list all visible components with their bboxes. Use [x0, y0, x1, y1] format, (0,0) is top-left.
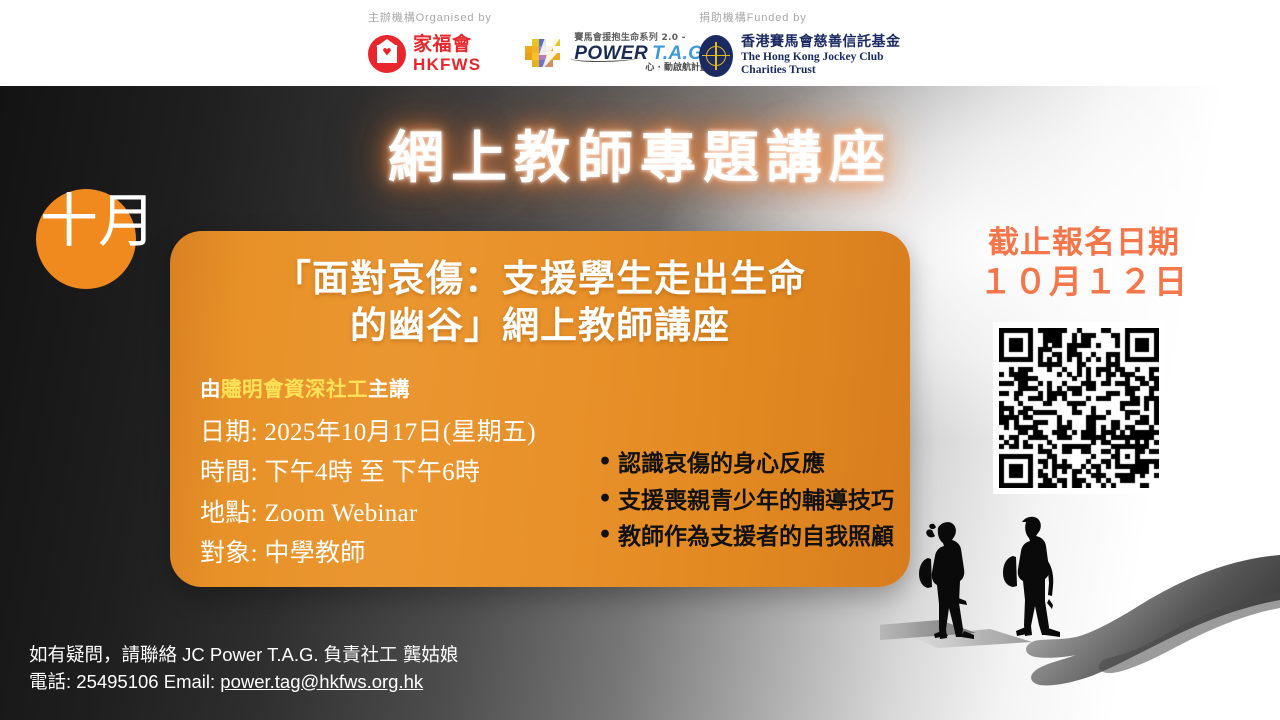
event-info-column: 由贐明會資深社工主講 日期: 2025年10月17日(星期五) 時間: 下午4時… — [200, 372, 590, 575]
sponsor-bar: 主辦機構Organised by 家福會 HKFWS — [0, 0, 1280, 86]
page-title: 網上教師專題講座 — [0, 113, 1280, 194]
phone-label: 電話: 25495106 Email: — [29, 671, 220, 692]
deadline-date: １０月１２日 — [950, 262, 1218, 302]
hkjc-logo: 香港賽馬會慈善信託基金 The Hong Kong Jockey Club Ch… — [699, 34, 901, 78]
powertag-logo: 賽馬會援抱生命系列 2.0 - POWERT.A.G. 心 · 動啟航計劃 — [525, 34, 709, 73]
deadline-label: 截止報名日期 — [950, 226, 1218, 262]
list-item: 支援喪親青少年的輔導技巧 — [596, 483, 894, 520]
hkjc-logo-en-line1: The Hong Kong Jockey Club — [741, 51, 901, 65]
hkfws-logo-cn: 家福會 — [413, 35, 481, 54]
powertag-sub-line: 心 · 動啟航計劃 — [574, 64, 709, 73]
jockey-club-emblem-icon — [699, 35, 733, 77]
organised-by-label: 主辦機構Organised by — [368, 9, 709, 25]
speaker-organisation: 贐明會資深社工 — [221, 377, 368, 401]
speaker-line: 由贐明會資深社工主講 — [200, 372, 590, 402]
event-title-line1: 「面對哀傷：支援學生走出生命 — [200, 255, 880, 302]
hkjc-logo-en-line2: Charities Trust — [741, 64, 901, 78]
event-audience: 對象: 中學教師 — [200, 534, 590, 575]
funded-by-label: 捐助機構Funded by — [699, 9, 901, 25]
organiser-logos: 家福會 HKFWS — [368, 34, 709, 73]
funder-group: 捐助機構Funded by 香港賽馬會慈善信託基金 The Hong Kong … — [699, 9, 901, 78]
event-title: 「面對哀傷：支援學生走出生命 的幽谷」網上教師講座 — [200, 255, 880, 350]
hkfws-logo-en: HKFWS — [413, 56, 481, 73]
month-label: 十月 — [28, 193, 168, 250]
list-item: 教師作為支援者的自我照顧 — [596, 519, 894, 556]
hkfws-logo: 家福會 HKFWS — [368, 35, 481, 73]
registration-deadline: 截止報名日期 １０月１２日 — [950, 226, 1218, 302]
event-title-line2: 的幽谷」網上教師講座 — [200, 302, 880, 349]
speaker-suffix: 主講 — [368, 377, 410, 401]
event-venue: 地點: Zoom Webinar — [200, 494, 590, 535]
contact-line: 如有疑問，請聯絡 JC Power T.A.G. 負責社工 龔姑娘 — [29, 642, 458, 669]
footer-contact: 如有疑問，請聯絡 JC Power T.A.G. 負責社工 龔姑娘 電話: 25… — [29, 642, 458, 696]
hkjc-logo-cn: 香港賽馬會慈善信託基金 — [741, 34, 901, 51]
powertag-top-line: 賽馬會援抱生命系列 2.0 - — [574, 34, 709, 43]
lightning-blocks-icon — [525, 36, 569, 72]
student-silhouette-right — [1003, 517, 1060, 637]
students-and-hand-illustration — [880, 500, 1280, 720]
email-link[interactable]: power.tag@hkfws.org.hk — [220, 671, 423, 692]
open-hand-illustration — [1026, 555, 1280, 685]
list-item: 認識哀傷的身心反應 — [596, 446, 894, 483]
event-card: 「面對哀傷：支援學生走出生命 的幽谷」網上教師講座 由贐明會資深社工主講 日期:… — [170, 231, 910, 587]
event-time: 時間: 下午4時 至 下午6時 — [200, 453, 590, 494]
speaker-prefix: 由 — [200, 377, 221, 401]
registration-qr-code[interactable] — [993, 322, 1165, 494]
event-highlights-list: 認識哀傷的身心反應 支援喪親青少年的輔導技巧 教師作為支援者的自我照顧 — [596, 446, 894, 556]
organiser-group: 主辦機構Organised by 家福會 HKFWS — [368, 9, 709, 73]
hkfws-house-icon — [368, 35, 406, 73]
poster-root: 主辦機構Organised by 家福會 HKFWS — [0, 0, 1280, 720]
month-badge: 十月 — [28, 189, 168, 349]
qr-code-image[interactable] — [999, 328, 1159, 488]
event-highlights-column: 認識哀傷的身心反應 支援喪親青少年的輔導技巧 教師作為支援者的自我照顧 — [590, 372, 894, 575]
contact-phone-email: 電話: 25495106 Email: power.tag@hkfws.org.… — [29, 669, 458, 696]
event-date: 日期: 2025年10月17日(星期五) — [200, 413, 590, 454]
